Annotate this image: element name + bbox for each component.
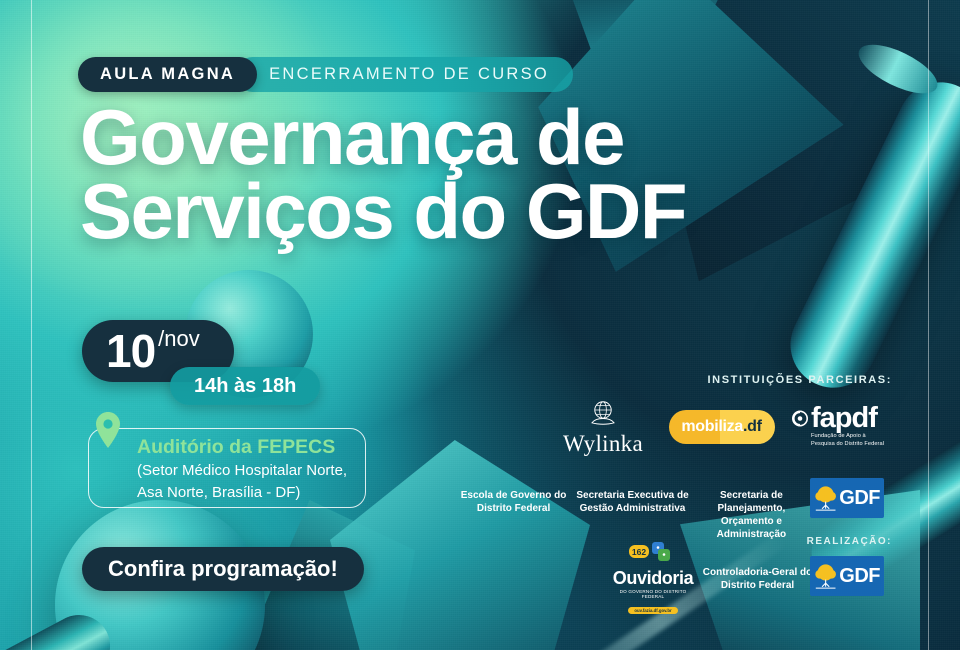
partner-caption-1: Escola de Governo do Distrito Federal	[455, 489, 572, 541]
partners-label: INSTITUIÇÕES PARCEIRAS:	[708, 374, 893, 386]
partner-captions: Escola de Governo do Distrito Federal Se…	[455, 489, 810, 541]
location-card: Auditório da FEPECS (Setor Médico Hospit…	[88, 428, 366, 508]
mobiliza-word: mobiliza	[681, 418, 743, 435]
controladoria-caption: Controladoria-Geral do Distrito Federal	[700, 566, 815, 592]
fapdf-mark-icon	[792, 410, 808, 427]
page-title: Governança de Serviços do GDF	[80, 100, 780, 248]
partner-caption-3: Secretaria de Planejamento, Orçamento e …	[693, 489, 810, 541]
date-time-block: 10 /nov 14h às 18h	[82, 320, 392, 410]
logo-fapdf: fapdf Fundação de Apoio à Pesquisa do Di…	[792, 405, 900, 448]
tree-icon	[814, 483, 837, 513]
date-day: 10	[106, 328, 155, 374]
location-address-line-1: (Setor Médico Hospitalar Norte,	[137, 461, 347, 481]
map-pin-icon	[93, 411, 123, 449]
location-venue: Auditório da FEPECS	[137, 435, 347, 459]
gdf-wordmark: GDF	[839, 487, 880, 510]
fapdf-wordmark: fapdf	[811, 405, 884, 431]
fapdf-subtitle-line-2: Pesquisa do Distrito Federal	[811, 441, 884, 449]
title-line-2: Serviços do GDF	[80, 174, 780, 248]
ouvidoria-badge-number: 162	[632, 547, 646, 557]
tree-icon	[814, 561, 837, 591]
wylinka-wordmark: Wylinka	[555, 432, 651, 455]
realization-label: REALIZAÇÃO:	[807, 536, 892, 547]
cta-button[interactable]: Confira programação!	[82, 547, 364, 591]
ouvidoria-tag: ouv.fazia.df.gov.br	[628, 607, 677, 614]
gdf-logo-realization: GDF	[810, 556, 884, 596]
partner-logo-row: Wylinka mobiliza.df fapdf Fundação de Ap…	[555, 398, 900, 456]
location-address-line-2: Asa Norte, Brasília - DF)	[137, 483, 347, 503]
partner-caption-2: Secretaria Executiva de Gestão Administr…	[574, 489, 691, 541]
gdf-logo-partners: GDF	[810, 478, 884, 518]
ouvidoria-wordmark: Ouvidoria	[608, 569, 698, 587]
logo-mobiliza-df: mobiliza.df	[669, 410, 775, 444]
logo-ouvidoria: 162 Ouvidoria DO GOVERNO DO DISTRITO FED…	[608, 542, 698, 617]
kicker-banner: AULA MAGNA ENCERRAMENTO DE CURSO	[78, 57, 573, 92]
ouvidoria-subtitle: DO GOVERNO DO DISTRITO FEDERAL	[608, 589, 698, 599]
speech-bubbles-icon: 162	[623, 542, 683, 564]
title-line-1: Governança de	[80, 100, 780, 174]
time-badge: 14h às 18h	[170, 367, 320, 405]
kicker-text: ENCERRAMENTO DE CURSO	[235, 57, 573, 92]
globe-icon	[588, 399, 618, 425]
logo-wylinka: Wylinka	[555, 399, 651, 455]
mobiliza-suffix: .df	[743, 418, 762, 435]
date-month: /nov	[158, 326, 200, 352]
event-poster: AULA MAGNA ENCERRAMENTO DE CURSO Governa…	[0, 0, 960, 650]
kicker-badge: AULA MAGNA	[78, 57, 257, 92]
gdf-wordmark: GDF	[839, 565, 880, 588]
